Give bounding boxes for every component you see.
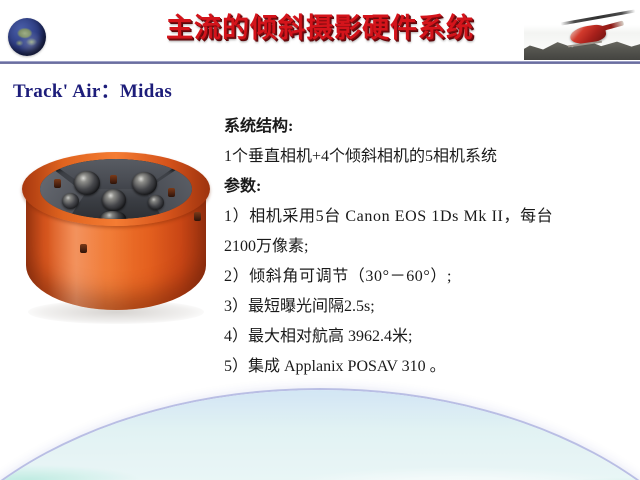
structure-heading: 系统结构: (224, 112, 624, 142)
specification-text-block: 系统结构: 1个垂直相机+4个倾斜相机的5相机系统 参数: 1）相机采用5台 C… (224, 112, 624, 382)
helicopter-photo (524, 0, 640, 60)
device-bolt (194, 212, 201, 221)
camera-lens-lower-detail (100, 211, 126, 219)
param-item-4: 4）最大相对航高 3962.4米; (224, 322, 624, 352)
device-bolt (80, 244, 87, 253)
device-bolt (168, 188, 175, 197)
param-item-2: 2）倾斜角可调节（30°－60°）; (224, 262, 624, 292)
device-bolt (110, 175, 117, 184)
helicopter-rotor-icon (560, 9, 635, 25)
midas-camera-unit-photo (18, 150, 216, 350)
params-heading: 参数: (224, 172, 624, 202)
slide-header: 主流的倾斜摄影硬件系统 (0, 0, 640, 63)
slide-canvas: 主流的倾斜摄影硬件系统 Track' Air：Midas (0, 0, 640, 480)
param-item-1-cont: 2100万像素; (224, 232, 624, 262)
camera-lens-oblique-3 (62, 193, 79, 209)
structure-text: 1个垂直相机+4个倾斜相机的5相机系统 (224, 142, 624, 172)
camera-lens-oblique-2 (132, 172, 157, 195)
subtitle: Track' Air：Midas (13, 76, 172, 103)
camera-lens-oblique-1 (74, 171, 100, 195)
earth-horizon-graphic (0, 390, 640, 480)
param-item-1: 1）相机采用5台 Canon EOS 1Ds Mk II，每台 (224, 202, 624, 232)
param-item-5: 5）集成 Applanix POSAV 310 。 (224, 352, 624, 382)
param-item-3: 3）最短曝光间隔2.5s; (224, 292, 624, 322)
device-bolt (54, 179, 61, 188)
camera-lens-nadir (102, 189, 126, 211)
camera-lens-oblique-4 (148, 195, 164, 210)
header-divider (0, 61, 640, 64)
